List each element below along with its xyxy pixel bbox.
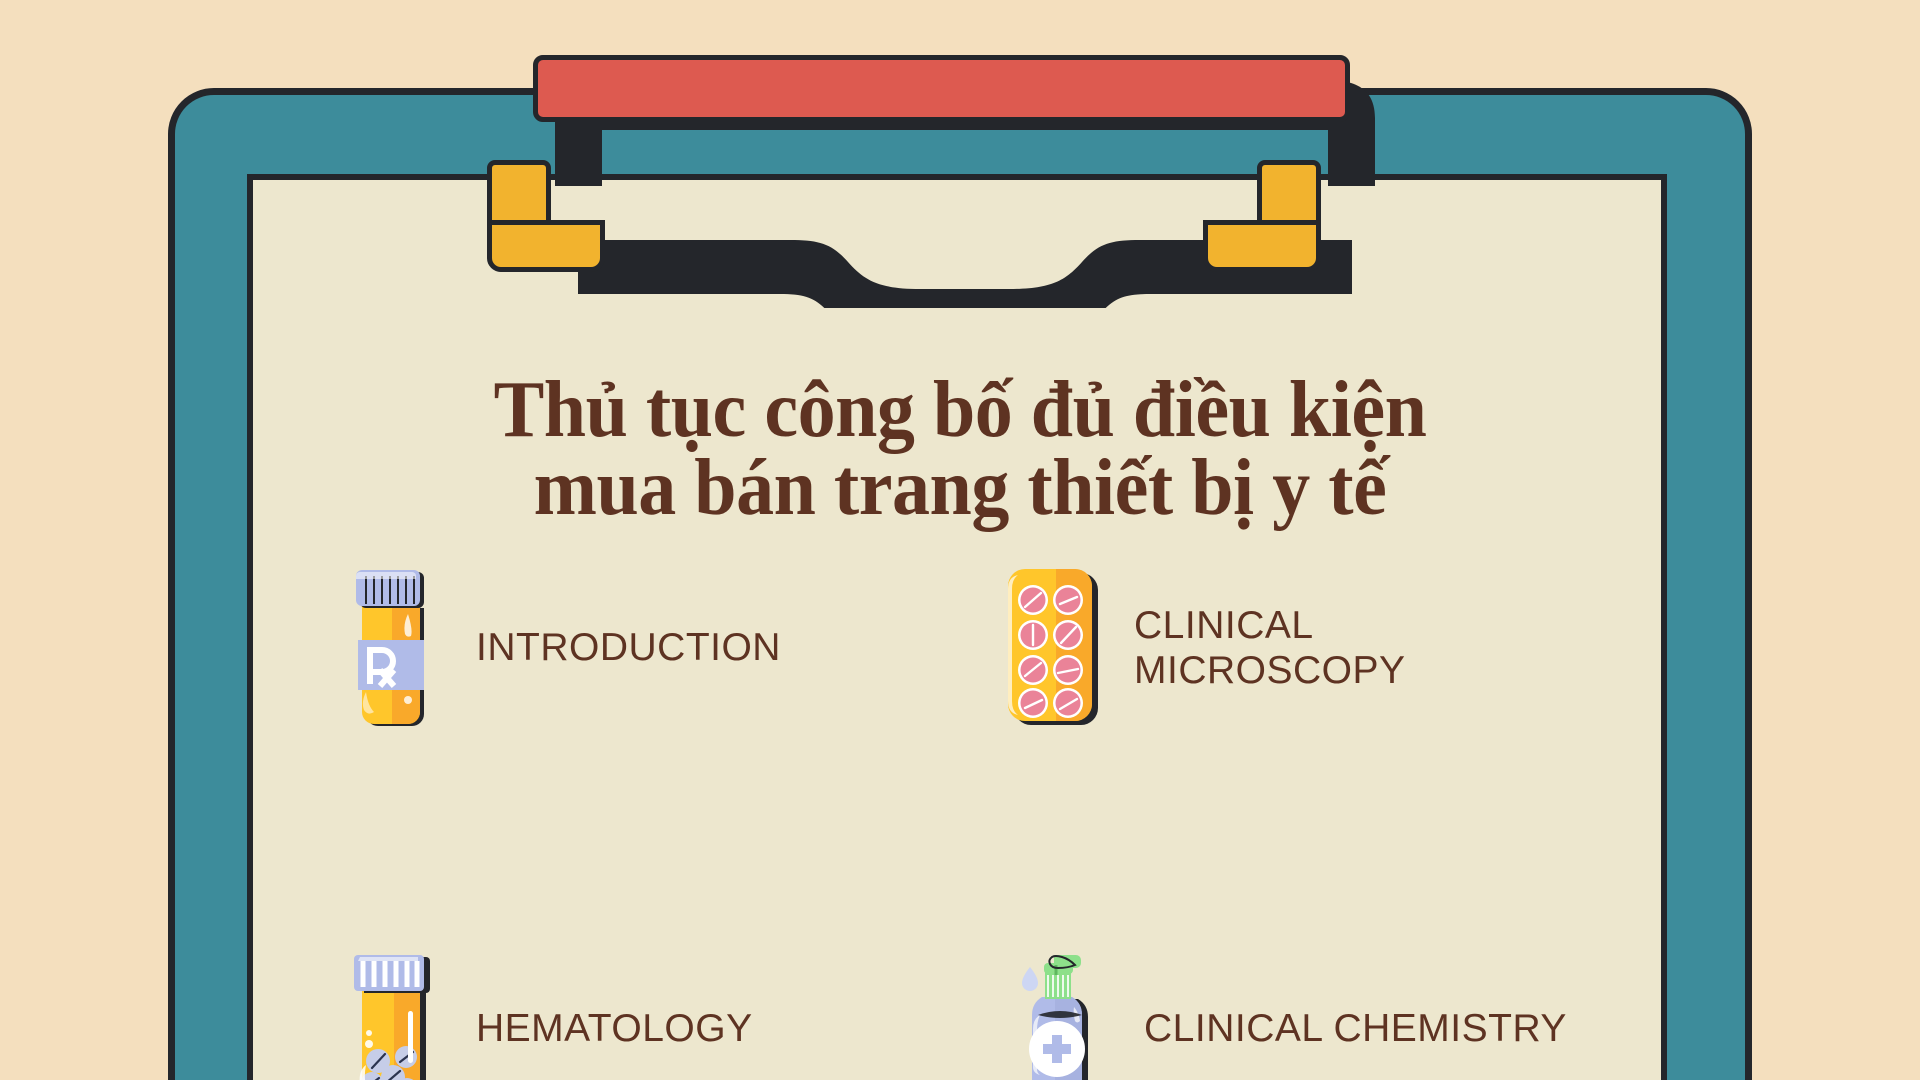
- clip-foot-left: [487, 220, 605, 272]
- page-title-line-2: mua bán trang thiết bị y tế: [48, 450, 1872, 528]
- menu-item-label: CLINICAL CHEMISTRY: [1144, 1006, 1567, 1051]
- menu-item-hematology[interactable]: HEMATOLOGY: [330, 941, 950, 1080]
- contents-menu: INTRODUCTION: [330, 560, 1620, 1080]
- contents-menu-row: INTRODUCTION: [330, 560, 1620, 736]
- menu-item-label: CLINICAL MICROSCOPY: [1134, 603, 1406, 693]
- pill-vial-icon: [330, 941, 460, 1080]
- page-title: Thủ tục công bố đủ điều kiện mua bán tra…: [48, 372, 1872, 527]
- menu-item-clinical-chemistry[interactable]: CLINICAL CHEMISTRY: [950, 941, 1570, 1080]
- contents-menu-row: HEMATOLOGY: [330, 941, 1620, 1080]
- blister-pack-icon: [988, 563, 1118, 733]
- menu-item-label: HEMATOLOGY: [476, 1006, 753, 1051]
- hand-sanitizer-icon: [998, 941, 1128, 1080]
- page-title-line-1: Thủ tục công bố đủ điều kiện: [48, 372, 1872, 450]
- clip-foot-right: [1203, 220, 1321, 272]
- paper-edge-highlight: [262, 180, 271, 1080]
- menu-item-introduction[interactable]: INTRODUCTION: [330, 560, 950, 736]
- clip-red-plate: [533, 55, 1350, 122]
- menu-item-label: INTRODUCTION: [476, 625, 781, 670]
- rx-bottle-icon: [330, 560, 460, 736]
- infographic-canvas: Thủ tục công bố đủ điều kiện mua bán tra…: [0, 0, 1920, 1080]
- menu-item-clinical-microscopy[interactable]: CLINICAL MICROSCOPY: [950, 560, 1570, 736]
